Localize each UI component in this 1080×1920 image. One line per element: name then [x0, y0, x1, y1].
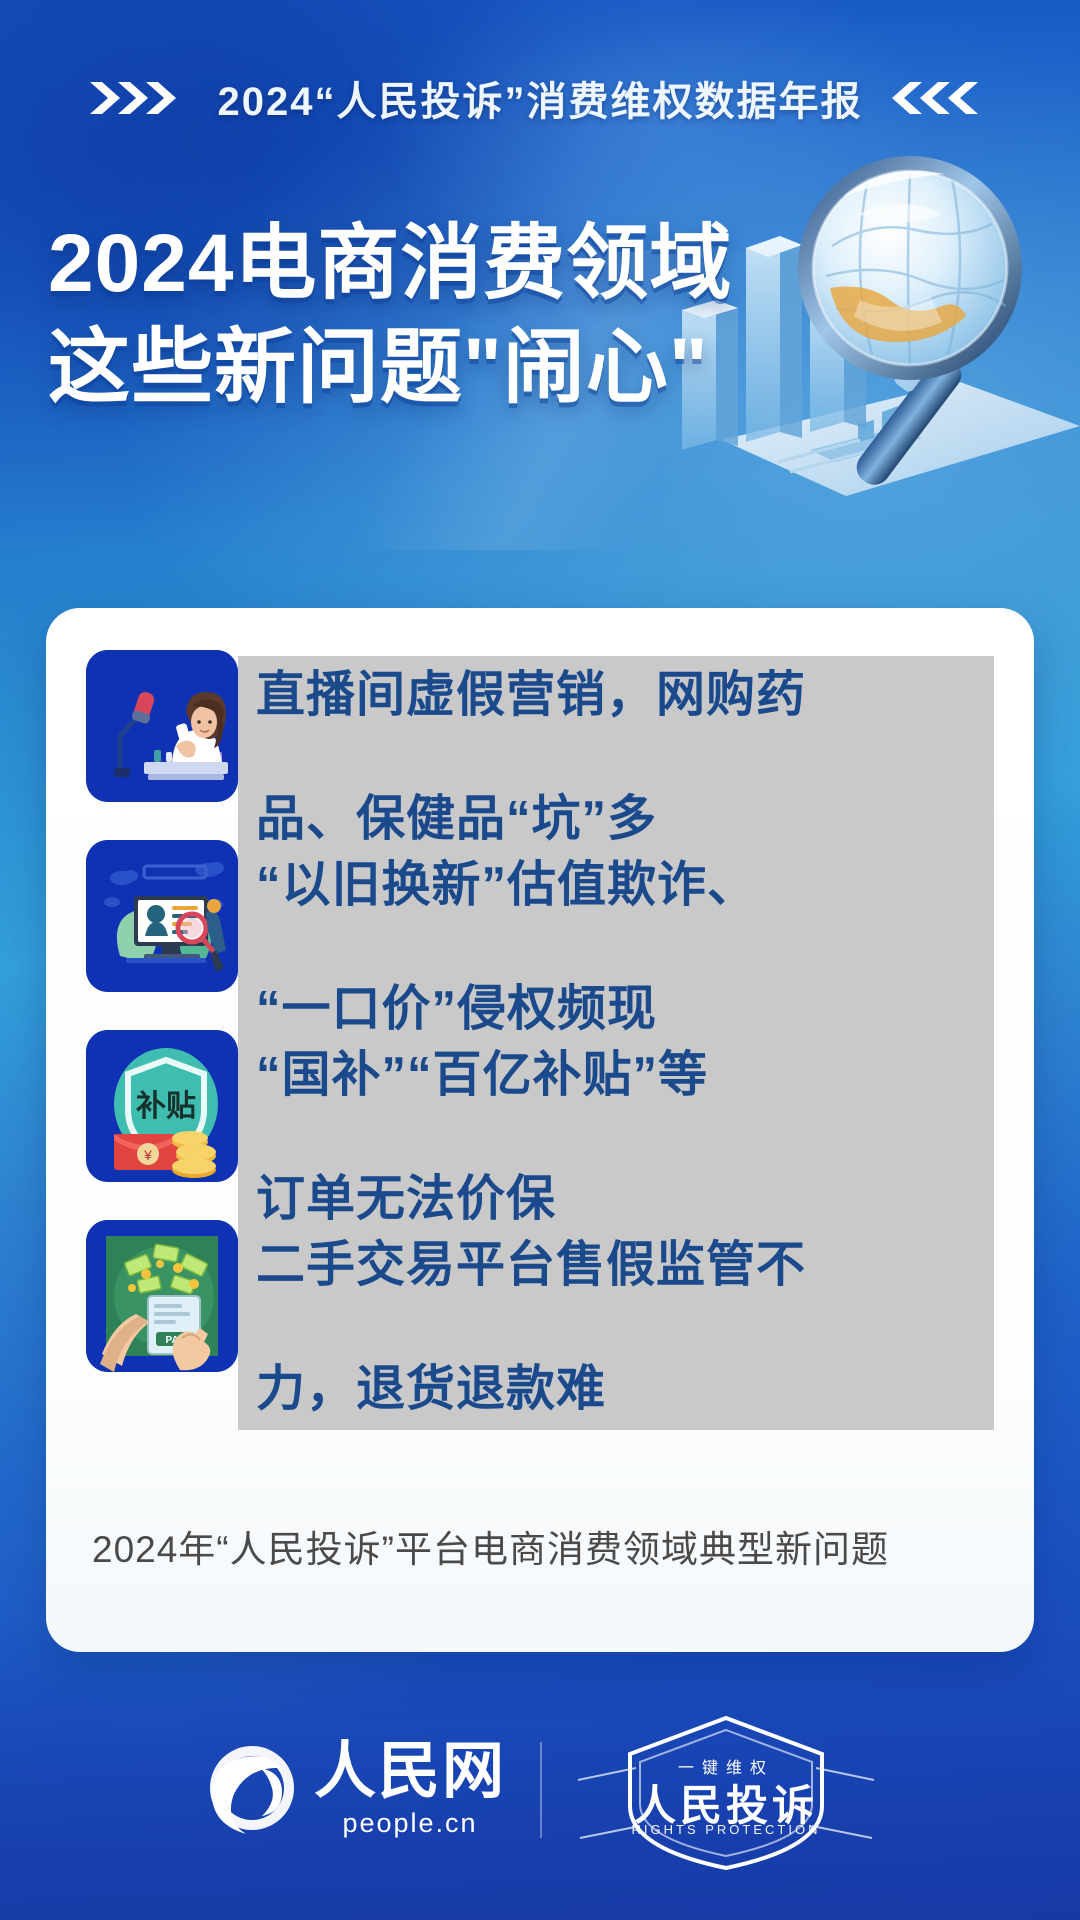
- monitor-profile-magnifier-icon: [86, 840, 238, 992]
- list-item[interactable]: PAY 二手交易平台售假监管不 力，退货退款难: [86, 1220, 994, 1378]
- list-item-text-line-1: 二手交易平台售假监管不: [256, 1234, 806, 1296]
- subsidy-shield-label: 补贴: [136, 1090, 196, 1123]
- list-item-text-line-2: 力，退货退款难: [256, 1358, 806, 1420]
- chevrons-left-icon: [884, 78, 992, 118]
- issue-list: 直播间虚假营销，网购药 品、保健品“坑”多: [86, 650, 994, 1410]
- svg-text:¥: ¥: [143, 1147, 152, 1163]
- people-cn-globe-icon: [204, 1740, 300, 1841]
- list-item-text: 二手交易平台售假监管不 力，退货退款难: [238, 1226, 994, 1430]
- content-card: 直播间虚假营销，网购药 品、保健品“坑”多: [46, 608, 1034, 1652]
- people-complaint-logo[interactable]: 一键维权 人民投诉 RIGHTS PROTECTION: [576, 1710, 876, 1870]
- subsidy-shield-coins-icon: 补贴 ¥: [86, 1030, 238, 1182]
- list-item-text-line-1: “以旧换新”估值欺诈、: [256, 854, 757, 916]
- page-header: 2024“人民投诉”消费维权数据年报: [0, 62, 1080, 134]
- list-item-text-line-2: “一口价”侵权频现: [256, 978, 757, 1040]
- list-item-text-line-2: 品、保健品“坑”多: [256, 788, 806, 850]
- list-item-text-line-1: “国补”“百亿补贴”等: [256, 1044, 708, 1106]
- poster-root: 2024“人民投诉”消费维权数据年报: [0, 0, 1080, 1920]
- card-caption: 2024年“人民投诉”平台电商消费领域典型新问题: [92, 1526, 992, 1574]
- page-title-line-2: 这些新问题"闹心": [48, 316, 748, 420]
- header-title: 2024“人民投诉”消费维权数据年报: [218, 69, 863, 127]
- list-item[interactable]: “以旧换新”估值欺诈、 “一口价”侵权频现: [86, 840, 994, 998]
- list-item-text: “以旧换新”估值欺诈、 “一口价”侵权频现: [238, 846, 994, 1050]
- page-title-line-1: 2024电商消费领域: [48, 212, 748, 316]
- page-title: 2024电商消费领域 这些新问题"闹心": [48, 212, 748, 420]
- people-cn-logo[interactable]: 人民网 people.cn: [204, 1740, 506, 1841]
- list-item-text-line-1: 直播间虚假营销，网购药: [256, 664, 806, 726]
- people-cn-domain: people.cn: [314, 1808, 506, 1839]
- livestream-host-icon: [86, 650, 238, 802]
- phone-cash-pay-icon: PAY: [86, 1220, 238, 1372]
- complaint-logo-sub-text: RIGHTS PROTECTION: [576, 1822, 876, 1837]
- list-item-text-line-2: 订单无法价保: [256, 1168, 708, 1230]
- chevrons-right-icon: [88, 78, 196, 118]
- list-item-text: “国补”“百亿补贴”等 订单无法价保: [238, 1036, 994, 1240]
- people-cn-chinese-name: 人民网: [314, 1742, 506, 1802]
- footer-logos: 人民网 people.cn 一键维权 人民投诉 RIGHTS PROTECTIO…: [0, 1700, 1080, 1880]
- list-item[interactable]: 直播间虚假营销，网购药 品、保健品“坑”多: [86, 650, 994, 808]
- footer-divider: [540, 1742, 542, 1838]
- list-item[interactable]: 补贴 ¥: [86, 1030, 994, 1188]
- list-item-text: 直播间虚假营销，网购药 品、保健品“坑”多: [238, 656, 994, 860]
